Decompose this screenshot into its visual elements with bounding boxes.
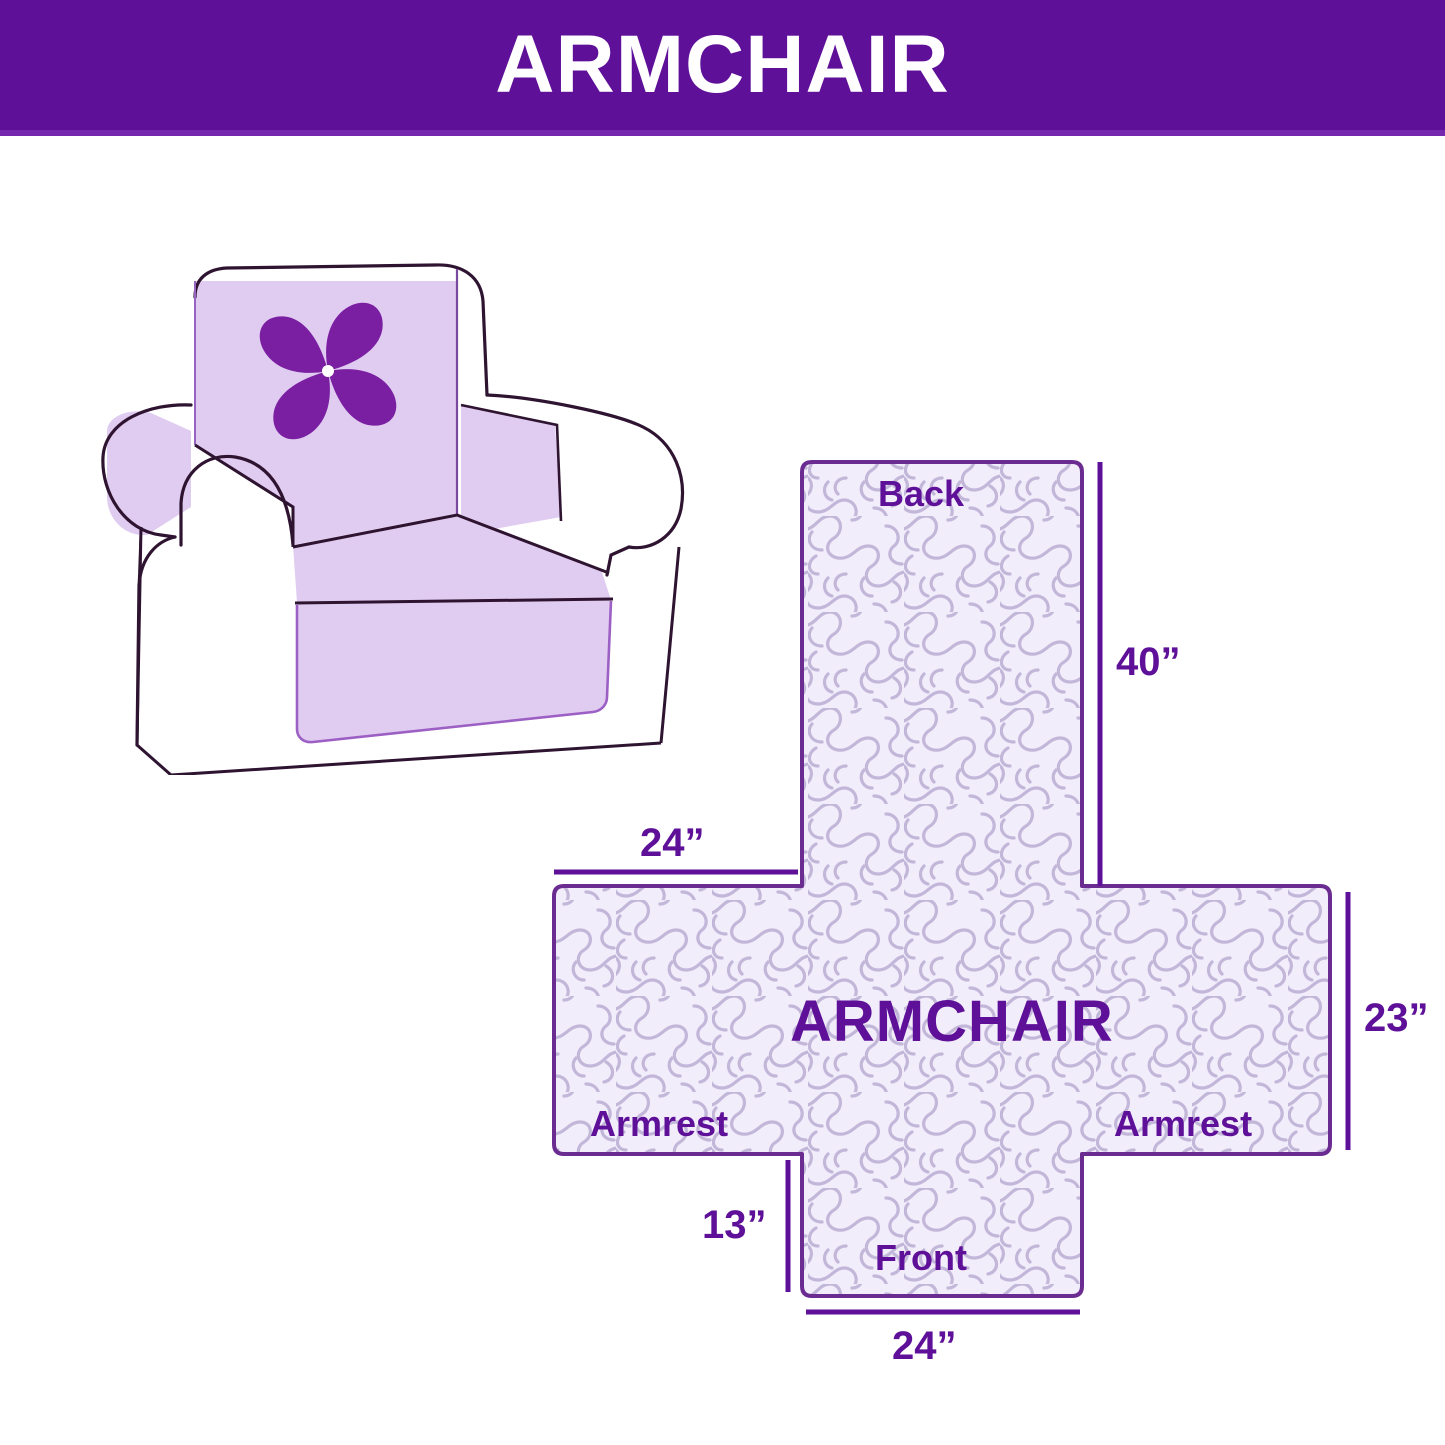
panel-label-armrest-left: Armrest	[590, 1106, 728, 1142]
panel-label-front: Front	[875, 1240, 967, 1276]
chair-back-cover-fill	[195, 281, 457, 545]
diagram-center-label: ARMCHAIR	[790, 993, 1114, 1051]
chair-left-arm-cover-fill	[107, 411, 191, 535]
panel-label-armrest-right: Armrest	[1114, 1106, 1252, 1142]
dimension-label-24in-bottom: 24”	[892, 1326, 957, 1366]
chair-front-left-leg	[137, 745, 171, 775]
slipcover-cross-diagram: Back ARMCHAIR Armrest Armrest Front 40” …	[520, 420, 1445, 1430]
cross-cover-shape	[554, 462, 1330, 1296]
page-title: ARMCHAIR	[495, 24, 949, 106]
product-dimension-infographic: ARMCHAIR	[0, 0, 1445, 1445]
chair-left-arm-inner-outline	[137, 537, 175, 745]
dimension-label-13in: 13”	[702, 1205, 767, 1245]
dimension-label-23in: 23”	[1364, 998, 1429, 1038]
dimension-label-40in: 40”	[1116, 642, 1181, 682]
header-banner: ARMCHAIR	[0, 0, 1445, 130]
panel-label-back: Back	[878, 476, 964, 512]
dimension-label-24in-top: 24”	[640, 823, 705, 863]
header-underline-divider	[0, 130, 1445, 136]
